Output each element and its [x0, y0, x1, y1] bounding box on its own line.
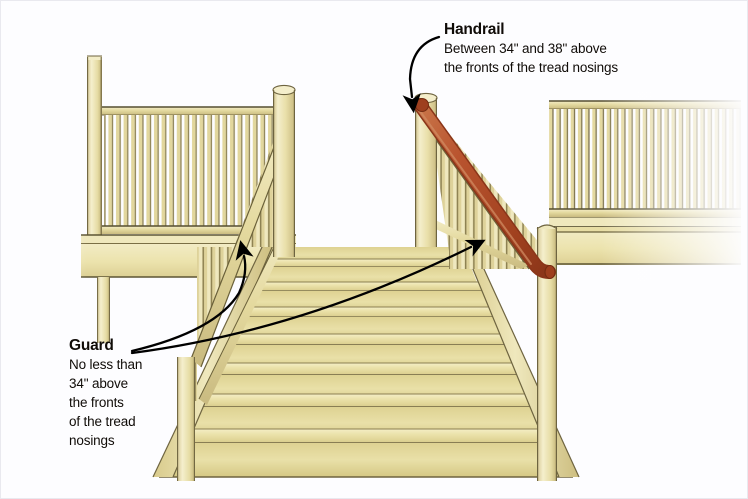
guard-heading: Guard: [69, 337, 174, 355]
handrail-leader-arrow: [410, 37, 439, 97]
guard-body-line-2: 34" above: [69, 374, 174, 393]
left-stair-newel-post: [273, 89, 295, 257]
right-deck-section: [549, 91, 748, 281]
left-fade-mask: [1, 221, 87, 351]
handrail-body-line-1: Between 34" and 38" above: [444, 39, 618, 58]
guard-body-line-3: the fronts: [69, 393, 174, 412]
handrail-body-line-2: the fronts of the tread nosings: [444, 58, 618, 77]
left-bottom-post: [177, 357, 195, 481]
left-deck-support-leg: [97, 277, 110, 343]
right-fade-mask: [601, 91, 748, 281]
handrail-top-return: [416, 99, 429, 112]
left-newel-cap: [273, 85, 295, 94]
handrail-heading: Handrail: [444, 21, 618, 39]
handrail-annotation: Handrail Between 34" and 38" above the f…: [444, 21, 618, 77]
guard-body-line-4: of the tread: [69, 412, 174, 431]
guard-body-line-5: nosings: [69, 431, 174, 450]
handrail-bottom-return: [545, 266, 555, 279]
left-far-post: [87, 56, 102, 264]
guard-annotation: Guard No less than 34" above the fronts …: [69, 337, 174, 451]
diagram-canvas: Handrail Between 34" and 38" above the f…: [0, 0, 748, 499]
guard-body-line-1: No less than: [69, 355, 174, 374]
left-deck-top-rail: [102, 107, 294, 115]
